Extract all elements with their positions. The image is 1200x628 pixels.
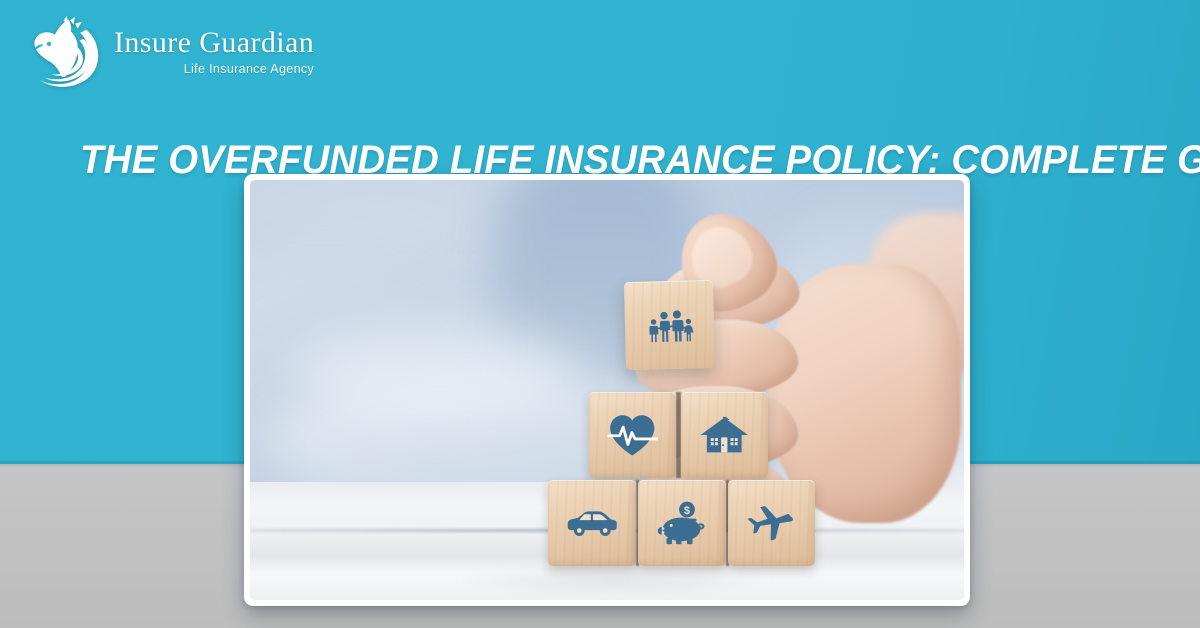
house-icon	[699, 410, 750, 460]
brand-wordmark: Insure Guardian Life Insurance Agency	[114, 28, 314, 80]
block-piggy-bank: $	[638, 480, 725, 566]
family-icon	[643, 299, 696, 351]
hero-photo: $	[250, 180, 964, 600]
block-family	[624, 280, 716, 370]
background-highlight	[293, 323, 579, 415]
heartbeat-icon	[607, 410, 658, 460]
brand-tagline: Life Insurance Agency	[184, 63, 314, 76]
hero-image-card: $	[244, 174, 970, 606]
block-airplane	[728, 480, 815, 566]
svg-text:$: $	[684, 505, 690, 517]
block-seam-middle	[676, 392, 680, 478]
block-car	[548, 480, 635, 566]
piggy-bank-icon: $	[657, 498, 708, 548]
brand-name: Insure Guardian	[114, 28, 314, 58]
social-share-banner: Insure Guardian Life Insurance Agency TH…	[0, 0, 1200, 628]
block-house	[681, 392, 768, 478]
brand-logo[interactable]: Insure Guardian Life Insurance Agency	[22, 16, 314, 92]
airplane-icon	[747, 498, 798, 548]
car-icon	[567, 498, 618, 548]
block-heart	[589, 392, 676, 478]
horse-head-icon	[22, 16, 108, 92]
